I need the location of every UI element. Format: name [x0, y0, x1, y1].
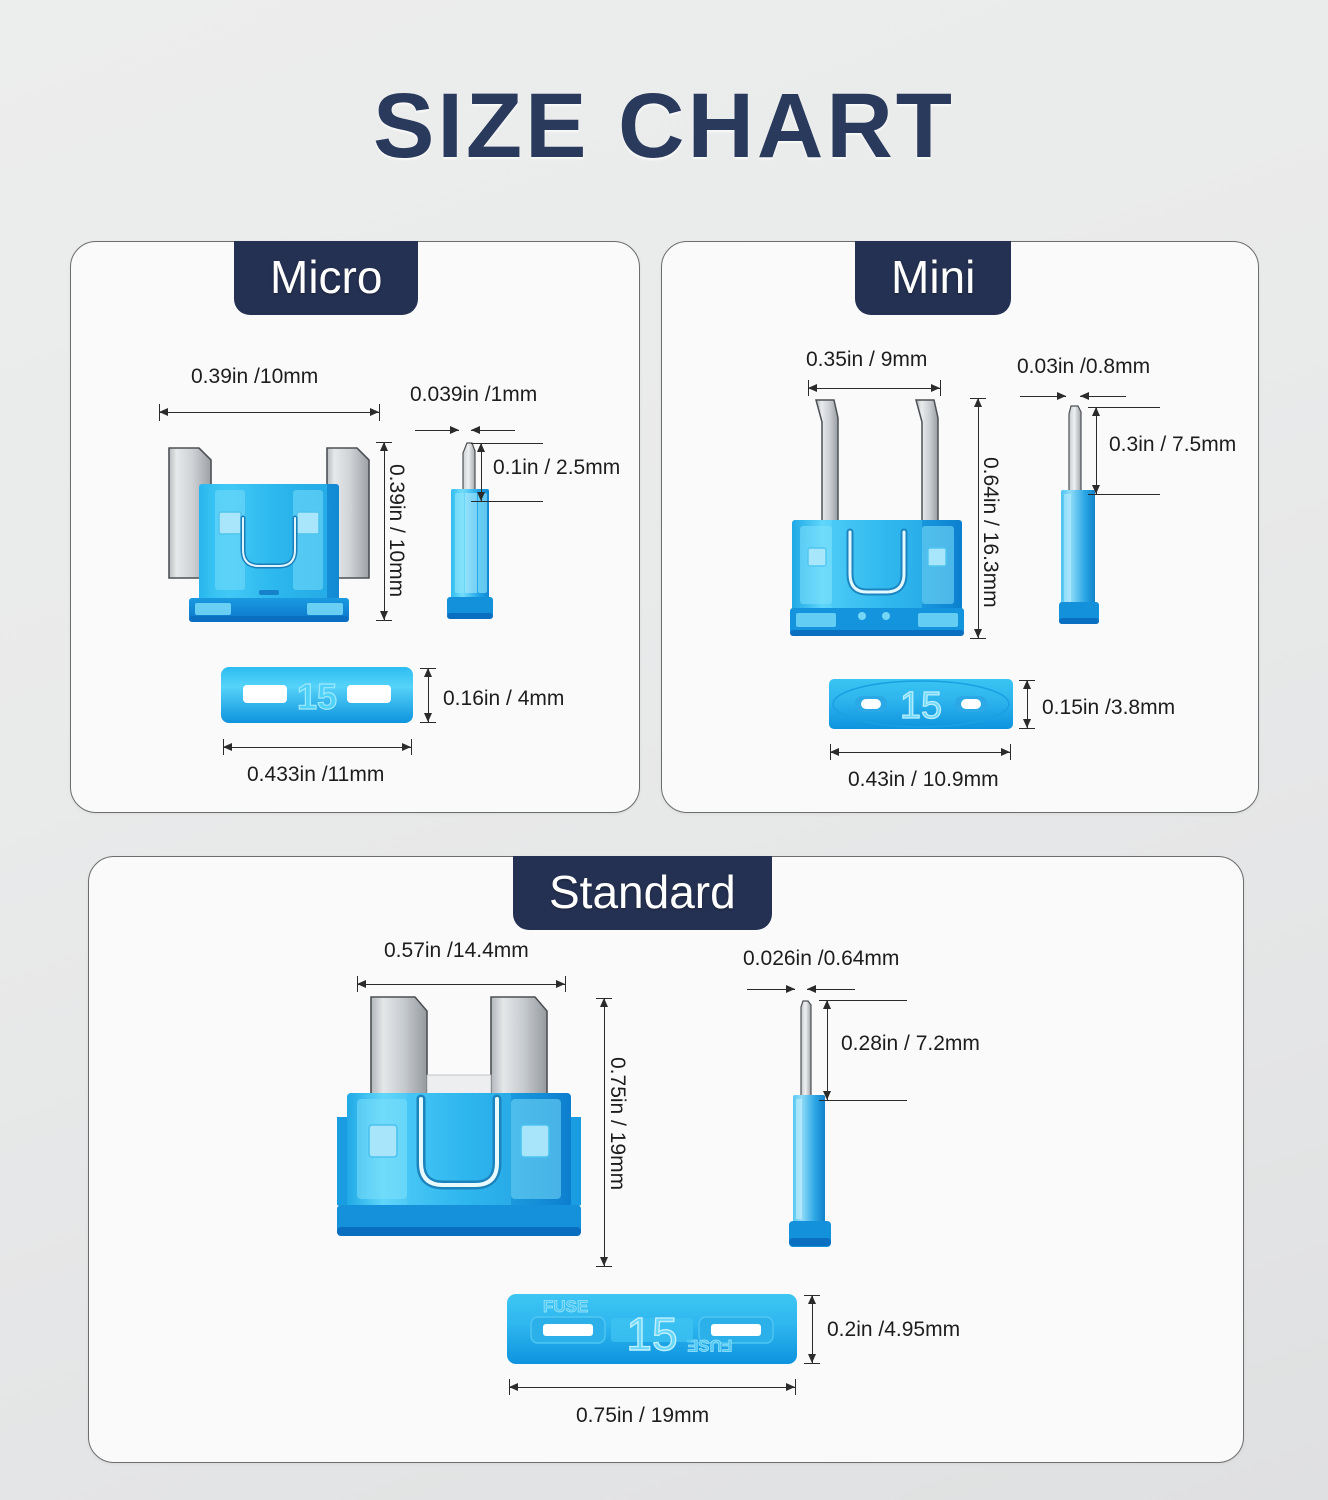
micro-amp-rating: 15: [297, 676, 337, 717]
dim-micro-blade-thickness: 0.039in /1mm: [410, 384, 537, 405]
dimline-mini-base-depth: [1027, 680, 1028, 728]
arrow-left-icon: [1080, 392, 1089, 400]
arrow-down-icon: [424, 713, 432, 722]
arrow-left-icon: [807, 985, 816, 993]
arrow-left-icon: [471, 426, 480, 434]
fuse-bottom-view-mini: 15: [829, 679, 1013, 729]
arrow-left-icon: [509, 1383, 518, 1391]
tick-standard-fh-top: [596, 998, 612, 999]
tick-mini-bd-top: [1019, 680, 1035, 681]
arrow-down-icon: [1092, 485, 1100, 494]
arrow-left-icon: [808, 384, 817, 392]
dim-micro-base-width: 0.433in /11mm: [247, 764, 384, 785]
dim-standard-base-width: 0.75in / 19mm: [576, 1405, 709, 1426]
fuse-bottom-view-standard: FUSE FUSE 15: [507, 1294, 797, 1364]
panel-label-mini: Mini: [855, 241, 1011, 315]
tick-micro-bw-left: [223, 739, 224, 755]
dimline-micro-base-width: [223, 747, 411, 748]
dim-mini-blade-length: 0.3in / 7.5mm: [1109, 434, 1236, 455]
fuse-side-view-mini: [1047, 400, 1117, 640]
dimline-micro-thk-right: [471, 430, 515, 431]
dim-micro-base-depth: 0.16in / 4mm: [443, 688, 564, 709]
arrow-down-icon: [808, 1354, 816, 1363]
dimline-mini-front-width: [808, 388, 940, 389]
panel-card-mini: Mini 0.35in / 9mm: [661, 241, 1259, 813]
fuse-front-view-micro: [159, 438, 379, 638]
tick-micro-bl-top: [471, 443, 543, 444]
dimline-micro-thk-left: [415, 430, 459, 431]
tick-standard-fh-bottom: [596, 1266, 612, 1267]
dim-standard-blade-length: 0.28in / 7.2mm: [841, 1033, 980, 1054]
tick-mini-fh-top: [970, 398, 986, 399]
arrow-right-icon: [402, 743, 411, 751]
page-title: SIZE CHART: [0, 74, 1328, 179]
arrow-down-icon: [380, 611, 388, 620]
mini-amp-rating: 15: [900, 685, 942, 727]
arrow-down-icon: [1023, 719, 1031, 728]
dimline-standard-front-height: [604, 998, 605, 1266]
tick-micro-height-bottom: [376, 620, 392, 621]
dim-micro-blade-length: 0.1in / 2.5mm: [493, 457, 620, 478]
arrow-up-icon: [477, 443, 485, 452]
dimline-mini-base-width: [830, 752, 1010, 753]
tick-mini-bl-top: [1088, 407, 1160, 408]
tick-micro-bd-top: [420, 668, 436, 669]
tick-micro-height-top: [376, 442, 392, 443]
tick-mini-bl-bottom: [1088, 494, 1160, 495]
tick-standard-bd-bottom: [804, 1363, 820, 1364]
arrow-down-icon: [477, 492, 485, 501]
arrow-up-icon: [600, 998, 608, 1007]
arrow-right-icon: [786, 985, 795, 993]
panel-card-standard: Standard 0.57in /14.4mm: [88, 856, 1244, 1463]
arrow-left-icon: [159, 408, 168, 416]
arrow-up-icon: [974, 398, 982, 407]
dimline-micro-blade-length: [481, 443, 482, 501]
dimline-standard-base-depth: [812, 1295, 813, 1363]
dim-micro-front-height: 0.39in / 10mm: [386, 464, 407, 597]
standard-bottom-marking-top: FUSE: [543, 1297, 588, 1316]
dim-standard-front-width: 0.57in /14.4mm: [384, 940, 529, 961]
tick-mini-bw-left: [830, 744, 831, 760]
dimline-micro-front-width: [159, 412, 379, 413]
dim-mini-front-height: 0.64in / 16.3mm: [980, 457, 1001, 608]
tick-mini-fh-bottom: [970, 638, 986, 639]
dimline-micro-base-depth: [428, 668, 429, 722]
fuse-side-view-standard: [777, 995, 851, 1265]
tick-standard-bw-right: [795, 1379, 796, 1395]
standard-bottom-marking-bottom: FUSE: [687, 1336, 732, 1355]
panel-label-micro: Micro: [234, 241, 418, 315]
arrow-left-icon: [830, 748, 839, 756]
arrow-left-icon: [223, 743, 232, 751]
dimline-mini-blade-length: [1096, 407, 1097, 494]
dimline-standard-blade-length: [827, 1000, 828, 1100]
tick-mini-bw-right: [1010, 744, 1011, 760]
dimline-standard-thk-right: [807, 989, 855, 990]
tick-standard-bl-bottom: [819, 1100, 907, 1101]
tick-standard-bl-top: [819, 1000, 907, 1001]
dimline-standard-front-width: [357, 984, 565, 985]
arrow-right-icon: [450, 426, 459, 434]
tick-micro-width-left: [159, 404, 160, 421]
tick-micro-bl-bottom: [471, 501, 543, 502]
dim-mini-front-width: 0.35in / 9mm: [806, 349, 927, 370]
dim-standard-base-depth: 0.2in /4.95mm: [827, 1319, 960, 1340]
arrow-up-icon: [823, 1000, 831, 1009]
arrow-up-icon: [380, 442, 388, 451]
tick-micro-bw-right: [411, 739, 412, 755]
tick-mini-bd-bottom: [1019, 728, 1035, 729]
dimline-standard-base-width: [509, 1387, 795, 1388]
panel-label-standard: Standard: [513, 856, 772, 930]
arrow-down-icon: [600, 1257, 608, 1266]
arrow-down-icon: [823, 1091, 831, 1100]
tick-standard-bd-top: [804, 1295, 820, 1296]
arrow-up-icon: [1092, 407, 1100, 416]
dim-standard-blade-thickness: 0.026in /0.64mm: [743, 948, 899, 969]
tick-micro-width-right: [379, 404, 380, 421]
arrow-down-icon: [974, 629, 982, 638]
arrow-up-icon: [808, 1295, 816, 1304]
arrow-right-icon: [1057, 392, 1066, 400]
arrow-up-icon: [1023, 680, 1031, 689]
arrow-right-icon: [1001, 748, 1010, 756]
dimline-mini-thk-right: [1080, 396, 1126, 397]
fuse-front-view-mini: [782, 392, 972, 642]
tick-micro-bd-bottom: [420, 722, 436, 723]
fuse-front-view-standard: [331, 987, 611, 1252]
fuse-bottom-view-micro: 15: [221, 667, 413, 723]
tick-standard-bw-left: [509, 1379, 510, 1395]
panel-card-micro: Micro 0.39in /10mm: [70, 241, 640, 813]
arrow-right-icon: [931, 384, 940, 392]
arrow-up-icon: [424, 668, 432, 677]
dim-mini-base-width: 0.43in / 10.9mm: [848, 769, 999, 790]
dim-mini-base-depth: 0.15in /3.8mm: [1042, 697, 1175, 718]
dimline-mini-thk-left: [1020, 396, 1066, 397]
dim-mini-blade-thickness: 0.03in /0.8mm: [1017, 356, 1150, 377]
standard-amp-rating: 15: [626, 1308, 677, 1360]
arrow-right-icon: [786, 1383, 795, 1391]
arrow-right-icon: [370, 408, 379, 416]
dimline-standard-thk-left: [747, 989, 795, 990]
dim-micro-front-width: 0.39in /10mm: [191, 366, 318, 387]
dim-standard-front-height: 0.75in / 19mm: [607, 1057, 628, 1190]
